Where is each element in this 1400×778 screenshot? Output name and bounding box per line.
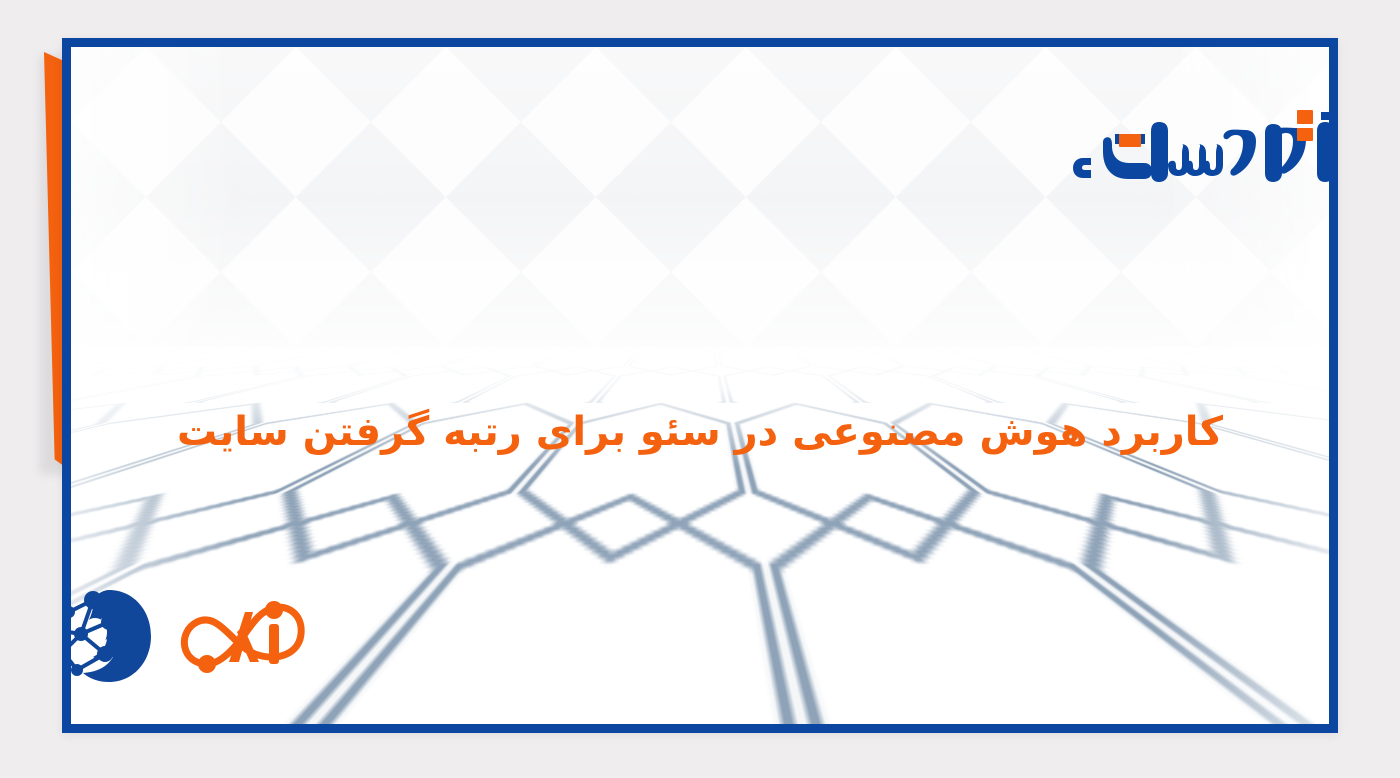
ai-head-network-icon[interactable] [71,584,155,688]
banner-card: کاربرد هوش مصنوعی در سئو برای رتبه گرفتن… [62,38,1338,733]
logo-cluster [71,584,319,688]
brand-logo[interactable] [1059,102,1329,192]
headline-text: کاربرد هوش مصنوعی در سئو برای رتبه گرفتن… [177,405,1223,459]
ai-infinity-mark-icon[interactable] [171,588,319,684]
card-inner: کاربرد هوش مصنوعی در سئو برای رتبه گرفتن… [71,47,1329,724]
banner-stage: کاربرد هوش مصنوعی در سئو برای رتبه گرفتن… [0,0,1400,778]
page-title: کاربرد هوش مصنوعی در سئو برای رتبه گرفتن… [71,405,1329,459]
sky-fade-overlay [71,47,1329,387]
